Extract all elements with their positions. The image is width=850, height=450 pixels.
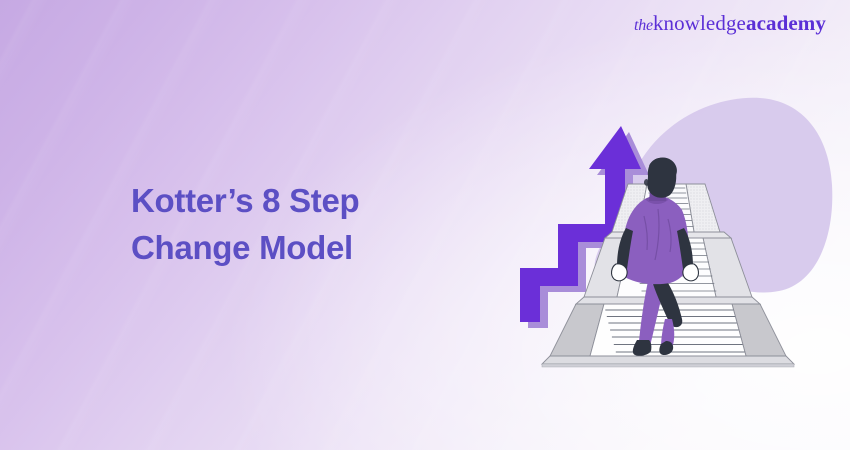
logo-part-academy: academy [746,11,826,35]
hand-left [612,264,628,281]
logo-part-the: the [634,17,653,34]
illustration [498,78,838,378]
logo-part-knowledge: knowledge [653,11,746,35]
hand-right [683,264,699,281]
page-title: Kotter’s 8 Step Change Model [131,178,359,272]
staircase-base [542,356,794,367]
brand-logo[interactable]: theknowledgeacademy [634,13,826,34]
banner-canvas: theknowledgeacademy Kotter’s 8 Step Chan… [0,0,850,450]
